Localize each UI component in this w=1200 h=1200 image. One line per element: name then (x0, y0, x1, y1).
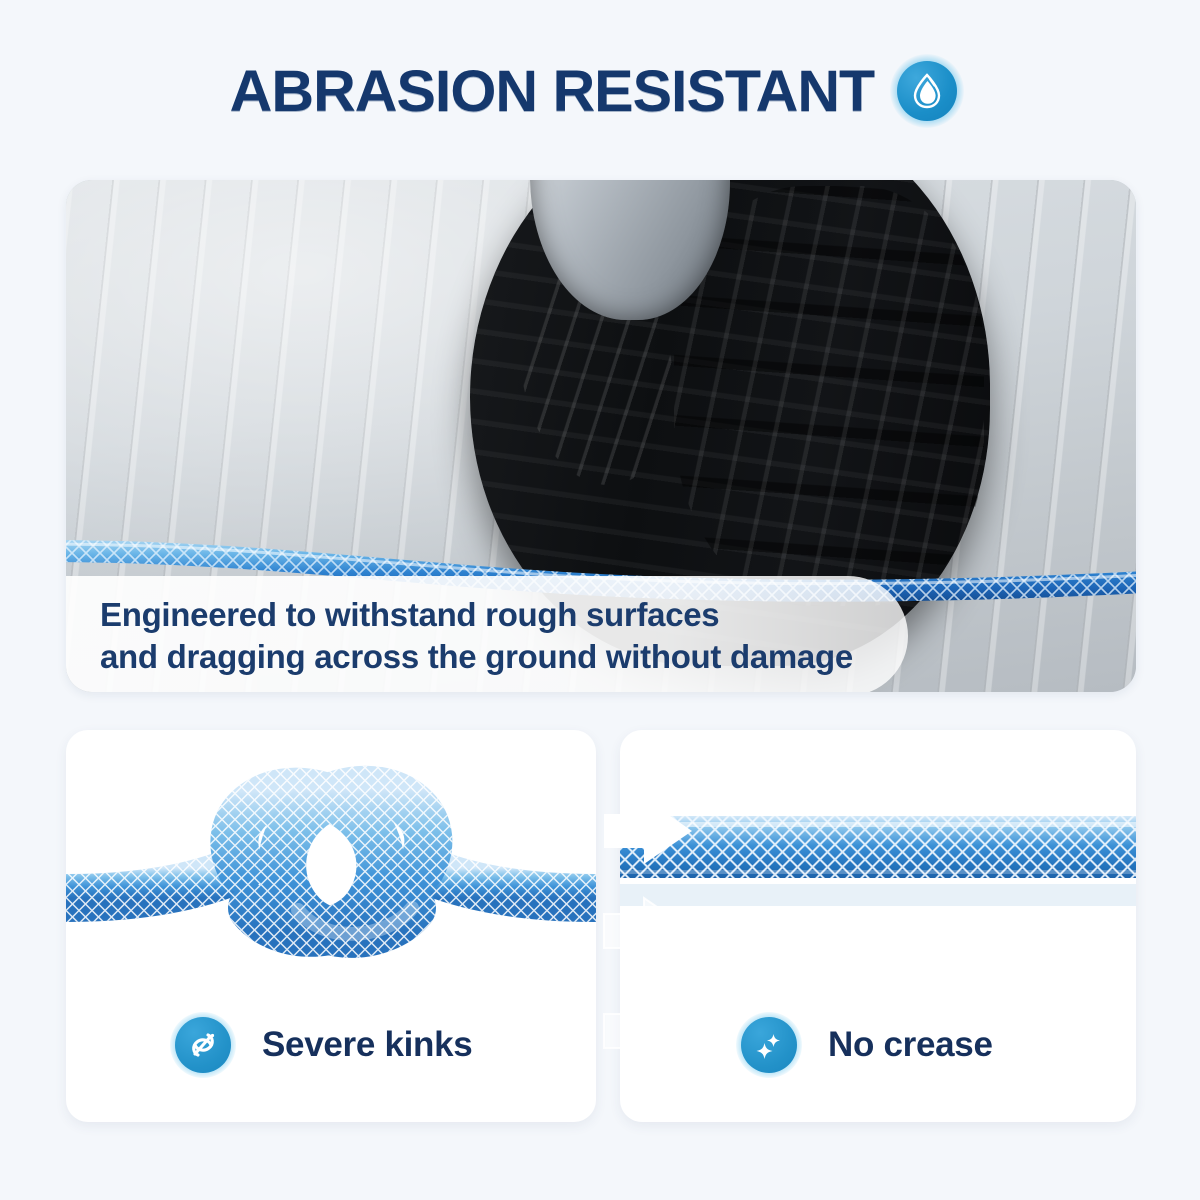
right-arrow-icon-1 (604, 798, 692, 864)
water-droplet-icon (909, 72, 945, 110)
severe-kinks-label: Severe kinks (262, 1025, 472, 1065)
water-droplet-badge (890, 54, 964, 128)
sparkle-icon (752, 1028, 786, 1062)
caption-line-1: Engineered to withstand rough surfaces (100, 594, 908, 636)
product-feature-page: ABRASION RESISTANT (0, 0, 1200, 1200)
sparkle-circle (741, 1017, 797, 1073)
knot-kink-badge (170, 1012, 236, 1078)
knotted-hose-image (66, 748, 596, 978)
no-crease-label: No crease (828, 1025, 993, 1065)
caption-line-2: and dragging across the ground without d… (100, 636, 908, 678)
right-arrow-icon-3 (604, 998, 692, 1064)
comparison-card-severe-kinks: Severe kinks (66, 730, 596, 1122)
knot-kink-circle (175, 1017, 231, 1073)
badge-circle (897, 61, 957, 121)
right-arrow-icon-2 (604, 898, 692, 964)
knot-kink-icon (186, 1028, 220, 1062)
hero-caption-overlay: Engineered to withstand rough surfaces a… (66, 576, 908, 692)
comparison-arrows (596, 790, 706, 1090)
hero-photo-panel: Engineered to withstand rough surfaces a… (66, 180, 1136, 692)
severe-kinks-footer: Severe kinks (66, 1012, 596, 1078)
sparkle-badge (736, 1012, 802, 1078)
page-title: ABRASION RESISTANT (230, 58, 874, 125)
page-header: ABRASION RESISTANT (0, 48, 1200, 134)
